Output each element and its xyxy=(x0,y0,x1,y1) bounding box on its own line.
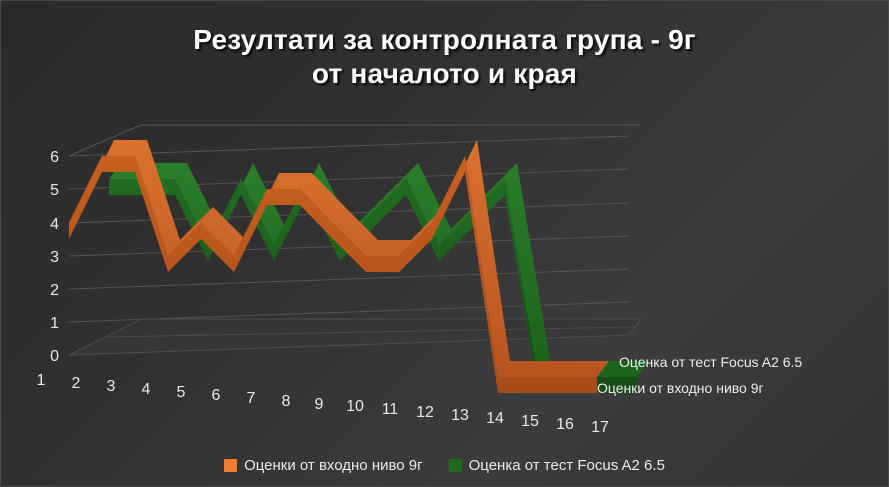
plot-back-wall-edge xyxy=(69,125,641,156)
y-tick-3: 3 xyxy=(50,249,59,266)
x-tick-6: 6 xyxy=(212,387,221,404)
y-tick-0: 0 xyxy=(50,348,59,365)
legend-label-orange: Оценки от входно ниво 9г xyxy=(244,457,423,474)
x-tick-13: 13 xyxy=(451,407,469,424)
x-tick-10: 10 xyxy=(346,398,364,415)
legend-label-green: Оценка от тест Focus A2 6.5 xyxy=(469,457,665,474)
y-tick-2: 2 xyxy=(50,282,59,299)
x-tick-14: 14 xyxy=(486,410,504,427)
y-tick-5: 5 xyxy=(50,182,59,199)
x-tick-2: 2 xyxy=(72,375,81,392)
x-tick-4: 4 xyxy=(142,381,151,398)
chart-container: Резултати за контролната група - 9г от н… xyxy=(0,0,889,487)
y-tick-1: 1 xyxy=(50,315,59,332)
x-tick-15: 15 xyxy=(521,413,539,430)
chart-legend: Оценки от входно ниво 9г Оценка от тест … xyxy=(1,457,888,474)
x-tick-9: 9 xyxy=(315,396,324,413)
plot-floor xyxy=(69,319,641,355)
legend-item-orange[interactable]: Оценки от входно ниво 9г xyxy=(224,457,423,474)
x-tick-12: 12 xyxy=(416,404,434,421)
y-axis-ticks: 6 5 4 3 2 1 0 xyxy=(50,149,59,365)
x-tick-17: 17 xyxy=(591,419,609,436)
legend-swatch-orange xyxy=(224,459,237,472)
x-tick-5: 5 xyxy=(177,384,186,401)
y-tick-6: 6 xyxy=(50,149,59,166)
x-tick-3: 3 xyxy=(107,378,116,395)
y-tick-4: 4 xyxy=(50,216,59,233)
series-end-label-green: Оценка от тест Focus A2 6.5 xyxy=(619,354,802,370)
legend-swatch-green xyxy=(449,459,462,472)
series-end-label-orange: Оценки от входно ниво 9г xyxy=(597,380,764,396)
x-tick-8: 8 xyxy=(282,393,291,410)
x-tick-11: 11 xyxy=(382,401,399,418)
chart-plot-area: 6 5 4 3 2 1 0 1 2 3 4 5 6 7 8 9 10 11 12… xyxy=(1,1,889,487)
legend-item-green[interactable]: Оценка от тест Focus A2 6.5 xyxy=(449,457,665,474)
x-tick-7: 7 xyxy=(247,390,256,407)
x-tick-1: 1 xyxy=(37,372,46,389)
x-tick-16: 16 xyxy=(556,416,574,433)
